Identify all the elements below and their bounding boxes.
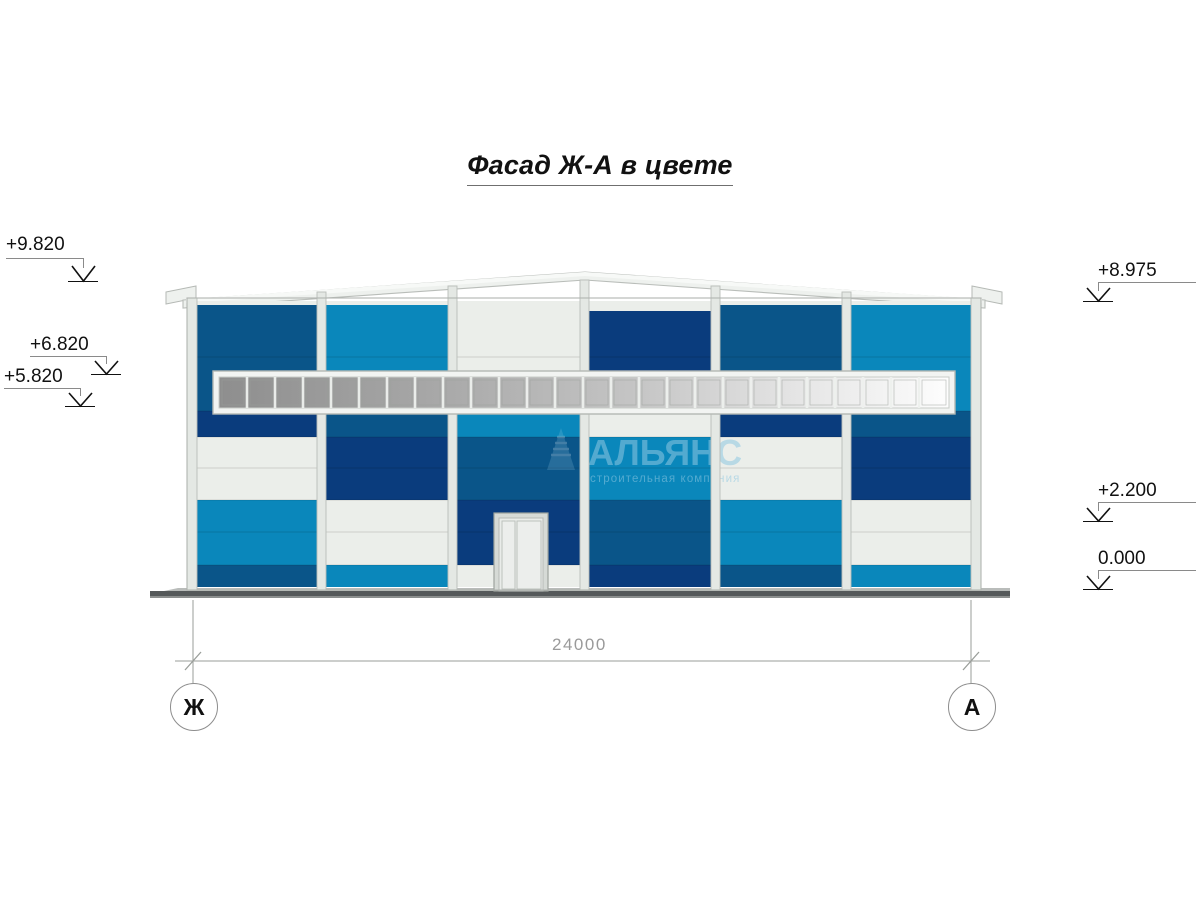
drawing-canvas: Фасад Ж-А в цвете +9.820 +6.820 +5.820 +… (0, 0, 1200, 900)
bay-6 (846, 305, 975, 590)
grid-bubble-left[interactable]: Ж (170, 683, 218, 731)
grid-bubble-right[interactable]: А (948, 683, 996, 731)
grid-bubble-right-label: А (964, 694, 981, 721)
building-elevation: АЛЬЯНС строительная компания (0, 0, 1200, 900)
entrance-door[interactable] (494, 513, 548, 591)
dimension-value: 24000 (552, 635, 607, 655)
grid-axis-stems (193, 661, 971, 683)
door-leaf-right (517, 521, 541, 589)
ribbon-window (213, 371, 955, 414)
bay-1 (193, 305, 322, 590)
bay-2 (322, 305, 453, 590)
door-leaf-left (502, 521, 515, 589)
grid-bubble-left-label: Ж (184, 694, 205, 721)
